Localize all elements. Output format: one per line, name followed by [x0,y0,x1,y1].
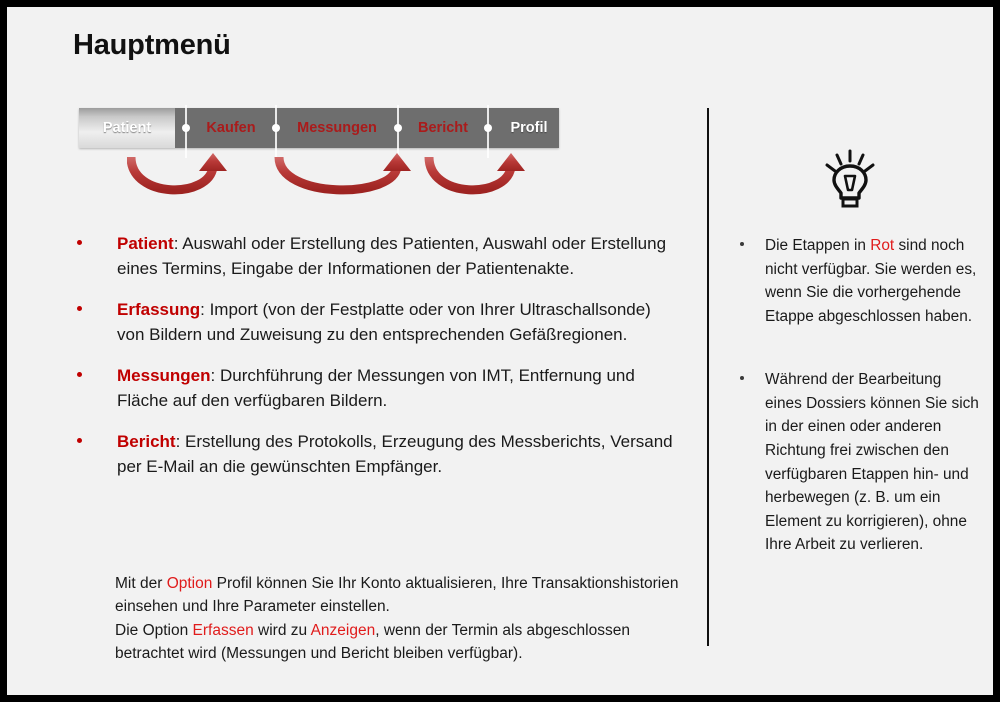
nav-separator-3 [387,108,409,148]
nav-item-label: Profil [510,120,547,136]
slide-canvas: Hauptmenü Patient Kaufen Messungen Beric… [7,7,993,695]
tip-text: Während der Bearbeitung eines Dossiers k… [765,371,979,553]
list-item: Die Etappen in Rot sind noch nicht verfü… [733,234,981,328]
workflow-arrows-group [127,153,557,209]
tip-text: Die Etappen in [765,237,870,254]
bullet-text: : Auswahl oder Erstellung des Patienten,… [117,234,666,278]
bullet-dot-icon [740,376,744,380]
workflow-navbar: Patient Kaufen Messungen Bericht Profil [79,108,559,148]
bullet-lead: Messungen [117,366,211,385]
nav-item-label: Bericht [418,120,468,136]
note-highlight-erfassen: Erfassen [193,622,254,639]
note-highlight-option: Option [167,575,213,592]
nav-item-kaufen[interactable]: Kaufen [197,108,265,148]
nav-item-label: Patient [103,120,151,136]
list-item: Während der Bearbeitung eines Dossiers k… [733,368,981,557]
curved-arrow-icon [279,153,411,190]
nav-item-label: Kaufen [206,120,255,136]
tip-highlight-rot: Rot [870,237,894,254]
bullet-dot-icon [740,242,744,246]
footer-note: Mit der Option Profil können Sie Ihr Kon… [115,572,690,665]
list-item: Patient: Auswahl oder Erstellung des Pat… [69,232,679,282]
note-text: wird zu [254,622,311,639]
column-divider [707,108,709,646]
bullet-dot-icon [77,438,82,443]
bullet-text: : Erstellung des Protokolls, Erzeugung d… [117,432,673,476]
bullet-dot-icon [77,240,82,245]
list-item: Messungen: Durchführung der Messungen vo… [69,364,679,414]
bullet-dot-icon [77,306,82,311]
list-item: Erfassung: Import (von der Festplatte od… [69,298,679,348]
main-bullet-list: Patient: Auswahl oder Erstellung des Pat… [69,232,679,496]
nav-separator-1 [175,108,197,148]
nav-item-patient[interactable]: Patient [79,108,175,148]
note-text: Die Option [115,622,193,639]
nav-separator-4 [477,108,499,148]
nav-item-profil[interactable]: Profil [499,108,559,148]
nav-item-messungen[interactable]: Messungen [287,108,387,148]
list-item: Bericht: Erstellung des Protokolls, Erze… [69,430,679,480]
note-text: Mit der [115,575,167,592]
tips-list: Die Etappen in Rot sind noch nicht verfü… [733,234,981,597]
nav-item-label: Messungen [297,120,377,136]
bullet-lead: Erfassung [117,300,200,319]
nav-separator-2 [265,108,287,148]
note-highlight-anzeigen: Anzeigen [311,622,376,639]
nav-item-bericht[interactable]: Bericht [409,108,477,148]
bullet-dot-icon [77,372,82,377]
curved-arrow-icon [429,153,525,190]
lightbulb-icon [819,149,881,211]
bullet-lead: Bericht [117,432,176,451]
page-title: Hauptmenü [73,29,231,62]
bullet-lead: Patient [117,234,174,253]
curved-arrow-icon [131,153,227,190]
